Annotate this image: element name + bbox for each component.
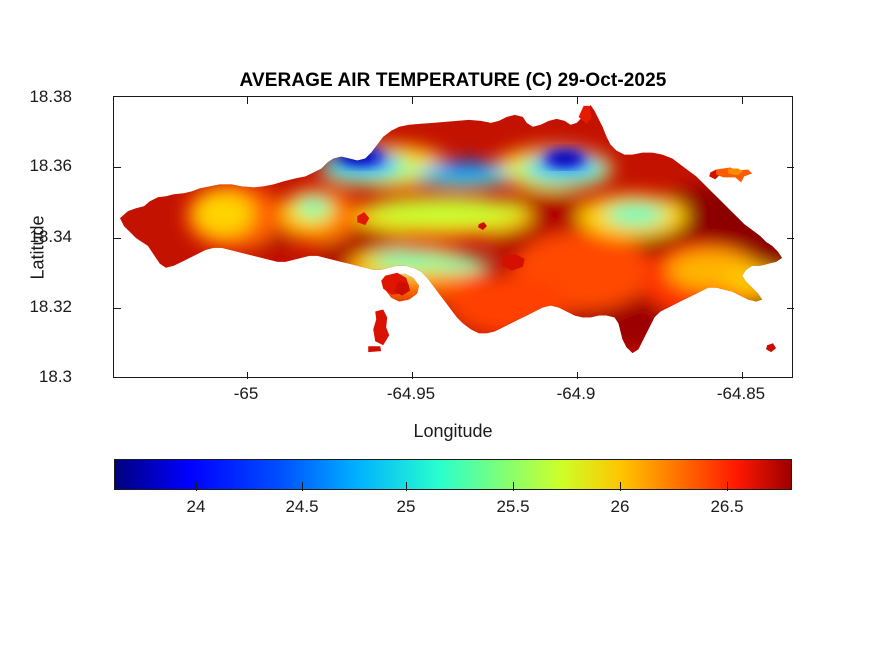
colorbar (114, 459, 792, 490)
xtick-top-3 (577, 97, 578, 104)
xtick-bot-3 (577, 372, 578, 379)
colorbar-label-1: 24.5 (285, 497, 318, 517)
colorbar-label-5: 26.5 (710, 497, 743, 517)
xtick-label-2: -64.9 (557, 384, 596, 404)
xtick-top-1 (247, 97, 248, 104)
ytick-right-1 (787, 167, 794, 168)
colorbar-label-3: 25.5 (496, 497, 529, 517)
ytick-right-3 (787, 308, 794, 309)
figure-canvas: AVERAGE AIR TEMPERATURE (C) 29-Oct-2025 (0, 0, 875, 656)
ytick-left-3 (114, 308, 121, 309)
ytick-label-1: 18.36 (29, 156, 72, 176)
colorbar-label-2: 25 (397, 497, 416, 517)
colorbar-label-0: 24 (187, 497, 206, 517)
xtick-label-1: -64.95 (387, 384, 435, 404)
ytick-left-2 (114, 238, 121, 239)
colorbar-label-4: 26 (611, 497, 630, 517)
xtick-bot-4 (742, 372, 743, 379)
xaxis-title: Longitude (113, 421, 793, 442)
chart-title: AVERAGE AIR TEMPERATURE (C) 29-Oct-2025 (113, 70, 793, 92)
ytick-left-1 (114, 167, 121, 168)
colorbar-tick-2 (406, 482, 407, 491)
map-axes (113, 96, 793, 378)
xtick-bot-2 (412, 372, 413, 379)
xtick-bot-1 (247, 372, 248, 379)
ytick-label-4: 18.3 (39, 367, 72, 387)
xtick-top-4 (742, 97, 743, 104)
xtick-label-3: -64.85 (717, 384, 765, 404)
colorbar-tick-3 (513, 482, 514, 491)
ytick-right-2 (787, 238, 794, 239)
colorbar-tick-4 (620, 482, 621, 491)
ytick-label-0: 18.38 (29, 87, 72, 107)
xtick-top-2 (412, 97, 413, 104)
yaxis-title: Latitude (28, 188, 49, 308)
temperature-heatmap (114, 97, 792, 377)
colorbar-tick-5 (727, 482, 728, 491)
colorbar-tick-0 (196, 482, 197, 491)
colorbar-tick-1 (302, 482, 303, 491)
xtick-label-0: -65 (234, 384, 259, 404)
